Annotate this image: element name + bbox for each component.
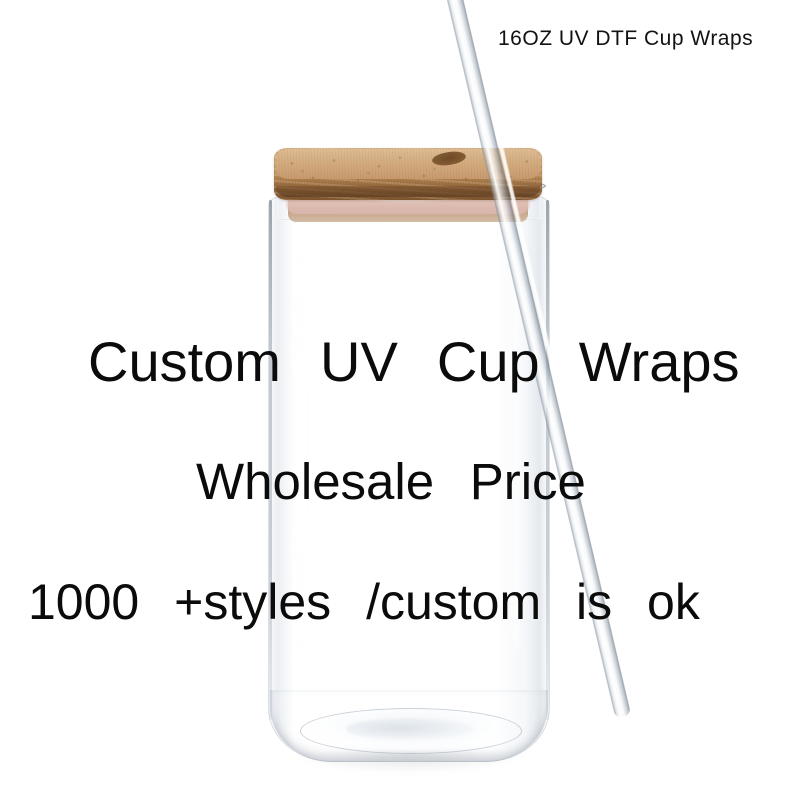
headline-word: Cup [437,329,540,394]
headline-word: Custom [88,329,281,394]
headline-word: ok [647,573,700,631]
glass-jar-base-highlight [346,718,474,740]
headline-word: 1000 [28,573,139,631]
headline-word: Wholesale [196,452,434,511]
headline-word: Wraps [579,329,740,394]
corner-product-label: 16OZ UV DTF Cup Wraps [498,27,753,51]
headline-word: /custom [366,573,541,631]
product-marketing-image: 16OZ UV DTF Cup Wraps Custom UV Cup Wrap… [0,0,800,800]
product-photo-glass-cup [0,0,800,800]
headline-line-3: 1000 +styles /custom is ok [28,573,700,631]
headline-word: UV [320,329,398,394]
headline-word: is [576,573,612,631]
headline-word: +styles [174,573,331,631]
headline-line-2: Wholesale Price [196,452,586,511]
headline-line-1: Custom UV Cup Wraps [88,329,739,394]
headline-word: Price [470,452,586,511]
